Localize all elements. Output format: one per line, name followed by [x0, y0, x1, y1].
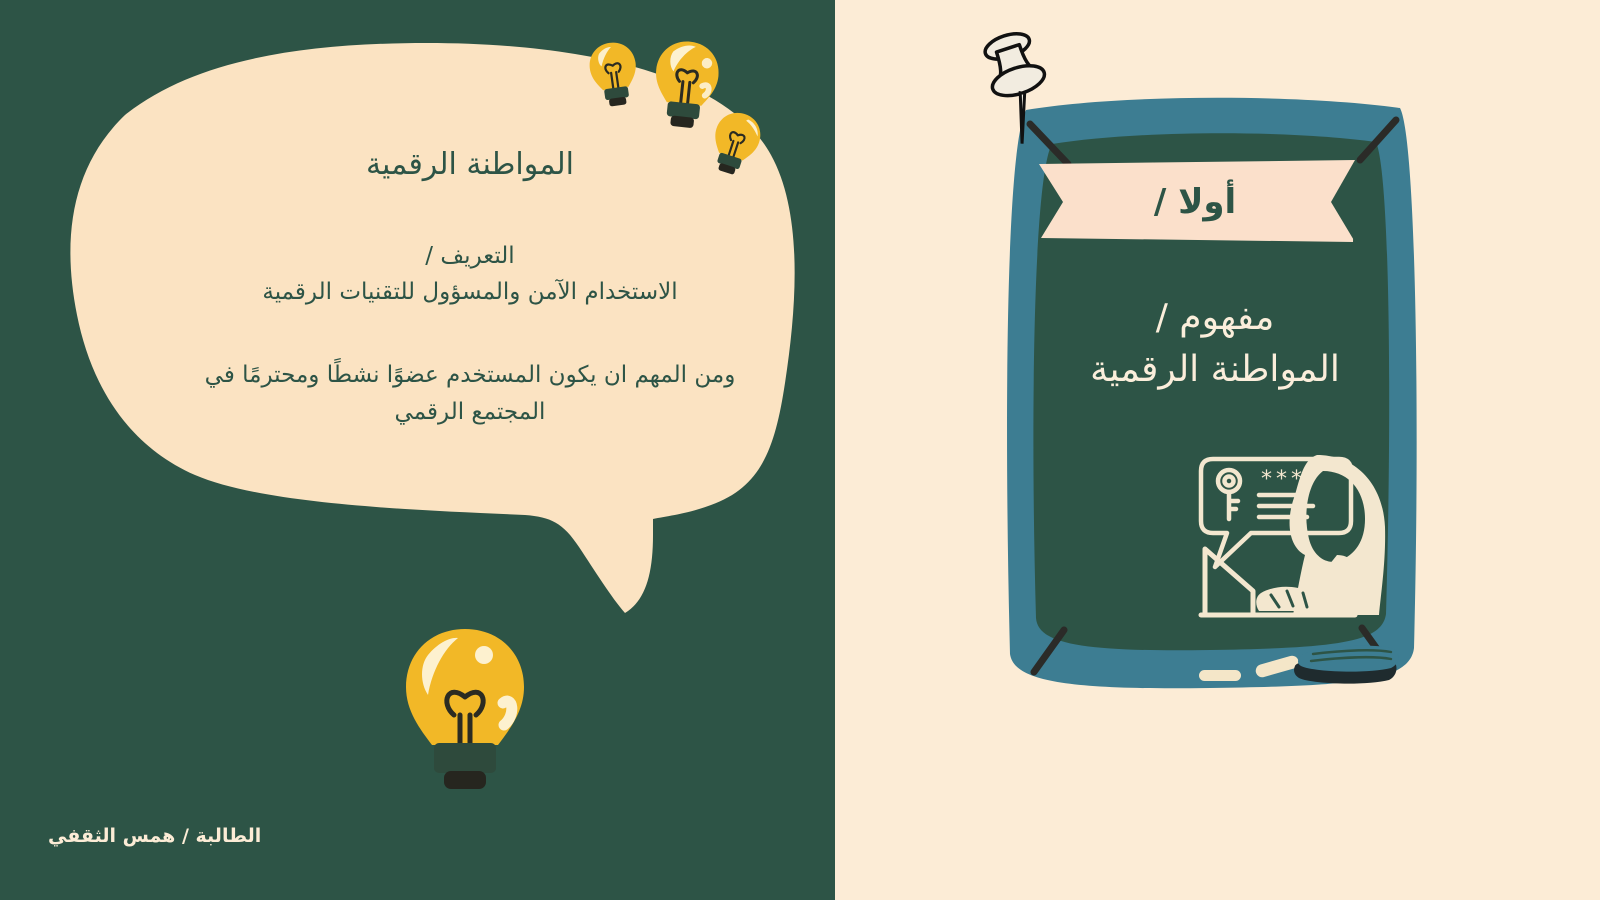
pushpin-icon [968, 28, 1054, 153]
person-at-laptop-password-icon: **** [1197, 443, 1392, 623]
board-heading: مفهوم / المواطنة الرقمية [1020, 292, 1410, 396]
bubble-note-block: ومن المهم ان يكون المستخدم عضوًا نشطًا و… [150, 357, 790, 431]
lightbulb-icon [645, 34, 727, 136]
student-credit: الطالبة / همس الثقفي [48, 825, 261, 847]
lightbulb-icon-large [400, 625, 530, 795]
person-at-laptop-password-icon: **** [1197, 443, 1392, 623]
bubble-heading: المواطنة الرقمية [150, 145, 790, 186]
pushpin-icon [968, 28, 1054, 153]
lightbulb-icon-small-2 [645, 34, 727, 136]
bubble-definition-block: التعريف / الاستخدام الآمن والمسؤول للتقن… [150, 238, 790, 312]
bubble-note-line-1: ومن المهم ان يكون المستخدم عضوًا نشطًا و… [150, 357, 790, 394]
speech-bubble-content: المواطنة الرقمية التعريف / الاستخدام الآ… [150, 145, 790, 431]
slide-canvas: المواطنة الرقمية التعريف / الاستخدام الآ… [0, 0, 1600, 900]
lightbulb-icon [400, 625, 530, 795]
bubble-definition-text: الاستخدام الآمن والمسؤول للتقنيات الرقمي… [150, 274, 790, 311]
chalk-tray-items [1195, 628, 1410, 690]
chalk-stick-icon [1254, 654, 1300, 679]
ribbon-banner: أولا / [1035, 158, 1355, 244]
lightbulb-icon-small-1 [583, 37, 644, 114]
svg-text:****: **** [1261, 467, 1321, 492]
chalk-stick-icon [1199, 670, 1241, 681]
board-heading-line-1: مفهوم / [1020, 292, 1410, 344]
bubble-definition-label: التعريف / [150, 238, 790, 275]
lightbulb-icon [583, 37, 644, 114]
bubble-note-line-2: المجتمع الرقمي [150, 394, 790, 431]
ribbon-label: أولا / [1035, 158, 1355, 244]
chalk-tray [1195, 628, 1410, 690]
board-heading-line-2: المواطنة الرقمية [1020, 344, 1410, 396]
